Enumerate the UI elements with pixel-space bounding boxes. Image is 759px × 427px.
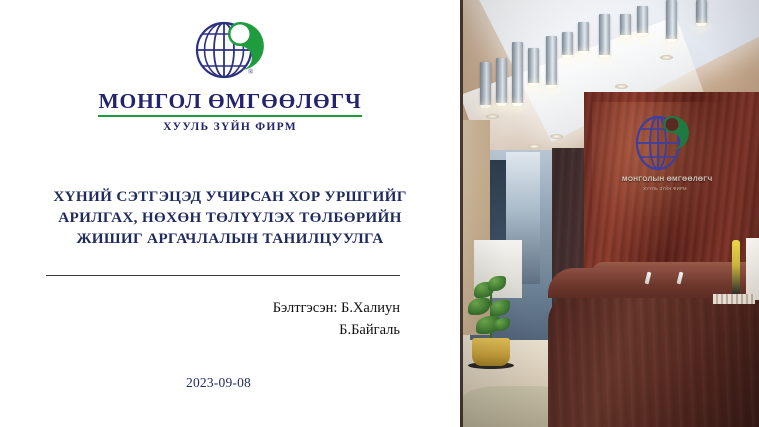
pendant-light bbox=[528, 48, 539, 84]
pendant-light bbox=[637, 6, 648, 34]
svg-text:®: ® bbox=[248, 68, 254, 76]
business-card-rack bbox=[713, 294, 755, 304]
brochure-stand bbox=[746, 238, 759, 300]
title-line-3: ЖИШИГ АРГАЧЛАЛЫН ТАНИЛЦУУЛГА bbox=[30, 228, 430, 249]
logo-subline: ХУУЛЬ ЗҮЙН ФИРМ bbox=[0, 121, 460, 133]
plant-pot bbox=[472, 338, 510, 366]
horizontal-divider bbox=[46, 275, 400, 276]
reception-desk-front bbox=[548, 292, 759, 427]
authors: Бэлтгэсэн: Б.Халиун Б.Байгаль bbox=[40, 297, 400, 341]
logo-wordmark: МОНГОЛ ӨМГӨӨЛӨГЧ bbox=[98, 90, 361, 117]
wall-logo-wordmark: МОНГОЛЫН ӨМГӨӨЛӨГЧ bbox=[622, 176, 708, 183]
title-line-2: АРИЛГАХ, НӨХӨН ТӨЛҮҮЛЭХ ТӨЛБӨРИЙН bbox=[30, 207, 430, 228]
pendant-light bbox=[620, 14, 631, 36]
page-title: ХҮНИЙ СЭТГЭЦЭД УЧИРСАН ХОР УРШГИЙГ АРИЛГ… bbox=[30, 186, 430, 249]
presentation-date: 2023-09-08 bbox=[186, 375, 251, 391]
pendant-light bbox=[599, 14, 610, 56]
left-content-panel: ® МОНГОЛ ӨМГӨӨЛӨГЧ ХУУЛЬ ЗҮЙН ФИРМ ХҮНИЙ… bbox=[0, 0, 460, 427]
pendant-light bbox=[562, 32, 573, 56]
recessed-downlight bbox=[615, 84, 628, 89]
pendant-light bbox=[480, 62, 491, 106]
globe-with-green-swirl-icon: ® bbox=[182, 16, 278, 88]
pen-holder bbox=[732, 240, 740, 295]
author-line-1: Бэлтгэсэн: Б.Халиун bbox=[40, 297, 400, 319]
wall-globe-logo-icon bbox=[632, 110, 690, 172]
recessed-downlight bbox=[528, 144, 541, 149]
title-slide: ® МОНГОЛ ӨМГӨӨЛӨГЧ ХУУЛЬ ЗҮЙН ФИРМ ХҮНИЙ… bbox=[0, 0, 759, 427]
pendant-light bbox=[578, 22, 589, 52]
pendant-light bbox=[546, 36, 557, 86]
photo-left-edge bbox=[460, 0, 463, 427]
pendant-light bbox=[696, 0, 707, 24]
office-reception-photo: МОНГОЛЫН ӨМГӨӨЛӨГЧ ХУУЛЬ ЗҮЙН ФИРМ bbox=[460, 0, 759, 427]
recessed-downlight bbox=[486, 114, 499, 119]
pendant-light bbox=[666, 0, 677, 40]
recessed-downlight bbox=[550, 134, 563, 139]
floor-rug bbox=[460, 386, 556, 427]
pendant-light bbox=[512, 42, 523, 104]
title-line-1: ХҮНИЙ СЭТГЭЦЭД УЧИРСАН ХОР УРШГИЙГ bbox=[30, 186, 430, 207]
recessed-downlight bbox=[660, 55, 673, 60]
wall-logo-subline: ХУУЛЬ ЗҮЙН ФИРМ bbox=[622, 186, 708, 191]
pendant-light bbox=[496, 58, 507, 104]
author-line-2: Б.Байгаль bbox=[40, 319, 400, 341]
company-logo: ® МОНГОЛ ӨМГӨӨЛӨГЧ ХУУЛЬ ЗҮЙН ФИРМ bbox=[0, 16, 460, 133]
